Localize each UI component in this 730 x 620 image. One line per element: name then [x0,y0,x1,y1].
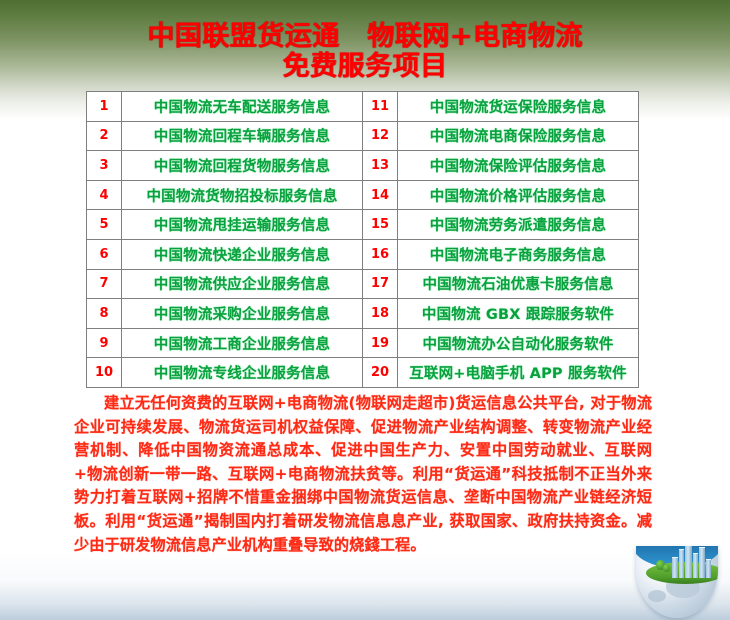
item-number: 14 [363,180,398,210]
item-label[interactable]: 中国物流电子商务服务信息 [398,239,639,269]
item-label[interactable]: 中国物流货运保险服务信息 [398,92,639,122]
item-label[interactable]: 中国物流回程货物服务信息 [122,151,363,181]
table-row: 4 中国物流货物招投标服务信息 14 中国物流价格评估服务信息 [87,180,639,210]
table-row: 2 中国物流回程车辆服务信息 12 中国物流电商保险服务信息 [87,121,639,151]
item-label[interactable]: 中国物流无车配送服务信息 [122,92,363,122]
item-number: 8 [87,299,122,329]
item-label[interactable]: 中国物流快递企业服务信息 [122,239,363,269]
item-number: 13 [363,151,398,181]
slide-canvas: 中国联盟货运通 物联网+电商物流 免费服务项目 1 中国物流无车配送服务信息 1… [0,0,730,620]
table-row: 6 中国物流快递企业服务信息 16 中国物流电子商务服务信息 [87,239,639,269]
building [672,557,678,578]
item-label[interactable]: 中国物流工商企业服务信息 [122,328,363,358]
building [706,559,711,578]
bottom-haze [0,550,730,620]
item-number: 6 [87,239,122,269]
service-items-body: 1 中国物流无车配送服务信息 11 中国物流货运保险服务信息 2 中国物流回程车… [87,92,639,388]
table-row: 5 中国物流甩挂运输服务信息 15 中国物流劳务派遣服务信息 [87,210,639,240]
item-label[interactable]: 中国物流价格评估服务信息 [398,180,639,210]
table-row: 10 中国物流专线企业服务信息 20 互联网+电脑手机 APP 服务软件 [87,358,639,388]
table-row: 3 中国物流回程货物服务信息 13 中国物流保险评估服务信息 [87,151,639,181]
item-label[interactable]: 中国物流供应企业服务信息 [122,269,363,299]
item-label[interactable]: 中国物流电商保险服务信息 [398,121,639,151]
tree [663,564,670,572]
item-label[interactable]: 中国物流甩挂运输服务信息 [122,210,363,240]
item-number: 15 [363,210,398,240]
item-number: 17 [363,269,398,299]
item-number: 3 [87,151,122,181]
item-label[interactable]: 中国物流办公自动化服务软件 [398,328,639,358]
item-number: 16 [363,239,398,269]
item-label[interactable]: 互联网+电脑手机 APP 服务软件 [398,358,639,388]
title-line-2: 免费服务项目 [0,52,730,82]
table-row: 8 中国物流采购企业服务信息 18 中国物流 GBX 跟踪服务软件 [87,299,639,329]
item-label[interactable]: 中国物流石油优惠卡服务信息 [398,269,639,299]
item-number: 2 [87,121,122,151]
item-label[interactable]: 中国物流劳务派遣服务信息 [398,210,639,240]
building [679,549,684,578]
item-number: 7 [87,269,122,299]
item-label[interactable]: 中国物流专线企业服务信息 [122,358,363,388]
item-number: 4 [87,180,122,210]
building [685,546,692,578]
item-number: 10 [87,358,122,388]
item-label[interactable]: 中国物流采购企业服务信息 [122,299,363,329]
city-skyline [670,546,714,578]
table-row: 9 中国物流工商企业服务信息 19 中国物流办公自动化服务软件 [87,328,639,358]
table-row: 7 中国物流供应企业服务信息 17 中国物流石油优惠卡服务信息 [87,269,639,299]
item-number: 5 [87,210,122,240]
title-line-1: 中国联盟货运通 物联网+电商物流 [0,22,730,52]
globe-sphere [636,546,718,618]
table-row: 1 中国物流无车配送服务信息 11 中国物流货运保险服务信息 [87,92,639,122]
item-number: 20 [363,358,398,388]
service-items-table: 1 中国物流无车配送服务信息 11 中国物流货运保险服务信息 2 中国物流回程车… [86,91,639,388]
page-title: 中国联盟货运通 物联网+电商物流 免费服务项目 [0,22,730,82]
item-label[interactable]: 中国物流保险评估服务信息 [398,151,639,181]
item-number: 1 [87,92,122,122]
globe-landmass-secondary [648,590,666,602]
description-paragraph: 建立无任何资费的互联网+电商物流(物联网走超市)货运信息公共平台, 对于物流企业… [74,392,652,557]
item-number: 11 [363,92,398,122]
building [693,553,698,578]
item-label[interactable]: 中国物流 GBX 跟踪服务软件 [398,299,639,329]
item-number: 9 [87,328,122,358]
item-label[interactable]: 中国物流回程车辆服务信息 [122,121,363,151]
building [699,547,705,578]
item-number: 19 [363,328,398,358]
item-number: 18 [363,299,398,329]
earth-city-globe-icon [628,522,726,618]
item-number: 12 [363,121,398,151]
item-label[interactable]: 中国物流货物招投标服务信息 [122,180,363,210]
